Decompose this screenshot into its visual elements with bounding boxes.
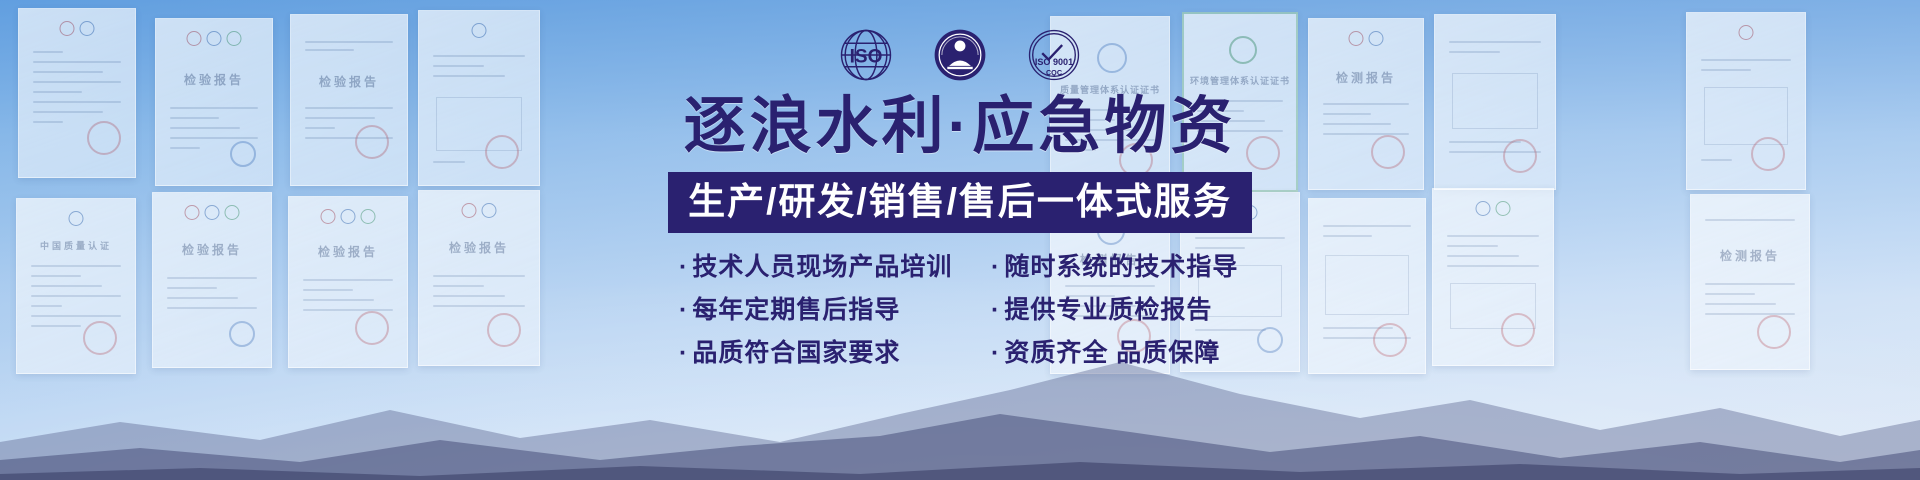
iso9001-badge-label: ISO 9001 (1035, 57, 1073, 67)
iso-badge: ISO (837, 26, 895, 84)
list-item: ·每年定期售后指导 (679, 298, 969, 323)
list-item: ·技术人员现场产品培训 (679, 255, 969, 280)
bullet-icon: · (679, 296, 688, 324)
quality-badge (931, 26, 989, 84)
certification-badges: ISO ISO 9001 CQC (0, 26, 1920, 84)
cqc-label: CQC (1046, 68, 1063, 77)
feature-list: ·技术人员现场产品培训 ·随时系统的技术指导 ·每年定期售后指导 ·提供专业质检… (679, 255, 1241, 366)
list-item-label: 随时系统的技术指导 (1004, 253, 1238, 281)
bullet-icon: · (991, 296, 1000, 324)
subtitle-band: 生产/研发/销售/售后一体式服务 (668, 172, 1252, 233)
bullet-icon: · (679, 253, 688, 281)
bullet-icon: · (991, 339, 1000, 367)
banner-content: 逐浪水利·应急物资 生产/研发/销售/售后一体式服务 ·技术人员现场产品培训 ·… (0, 96, 1920, 366)
list-item-label: 每年定期售后指导 (692, 296, 900, 324)
bullet-icon: · (679, 339, 688, 367)
list-item: ·随时系统的技术指导 (991, 255, 1241, 280)
list-item-label: 技术人员现场产品培训 (692, 253, 952, 281)
iso-badge-label: ISO (850, 46, 883, 67)
list-item: ·提供专业质检报告 (991, 298, 1241, 323)
list-item-label: 提供专业质检报告 (1004, 296, 1212, 324)
list-item: ·品质符合国家要求 (679, 341, 969, 366)
iso9001-badge: ISO 9001 CQC (1025, 26, 1083, 84)
list-item: ·资质齐全 品质保障 (991, 341, 1241, 366)
list-item-label: 资质齐全 品质保障 (1004, 339, 1220, 367)
bullet-icon: · (991, 253, 1000, 281)
promo-banner: 检验报告 检验报告 质量管理体系认证证书 (0, 0, 1920, 480)
list-item-label: 品质符合国家要求 (692, 339, 900, 367)
page-title: 逐浪水利·应急物资 (684, 96, 1237, 158)
